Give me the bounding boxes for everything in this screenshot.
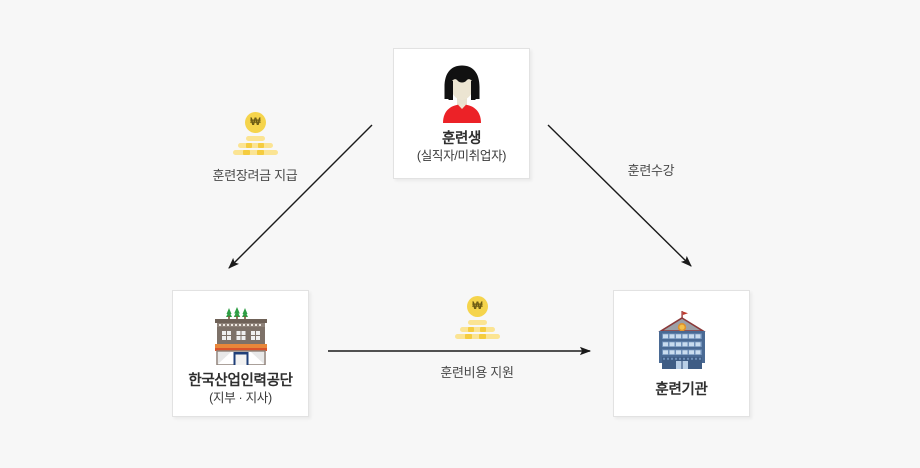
node-institution-label: 훈련기관 (655, 381, 707, 399)
coin-bar-2 (238, 143, 273, 148)
node-trainee-sublabel: (실직자/미취업자) (417, 149, 506, 165)
won-symbol: ₩ (472, 301, 482, 312)
coin-bar-3 (455, 334, 500, 339)
won-symbol: ₩ (250, 117, 260, 128)
office-building-icon (651, 307, 713, 369)
storefront-building-icon (206, 303, 276, 365)
node-hrdk-sublabel: (지부 · 지사) (209, 391, 272, 407)
edge-scholarship-label: 훈련장려금 지급 (213, 165, 298, 184)
coin-bar-1 (468, 320, 487, 325)
node-institution[interactable]: 훈련기관 (613, 290, 750, 417)
edge-attendance: 훈련수강 (556, 160, 746, 179)
woman-avatar-icon (431, 61, 493, 123)
node-trainee-label: 훈련생 (442, 130, 481, 148)
coin-bar-2 (460, 327, 495, 332)
won-coin-circle: ₩ (245, 112, 266, 133)
edge-attendance-label: 훈련수강 (556, 160, 746, 179)
coin-bar-1 (246, 136, 265, 141)
won-coin-stack-icon: ₩ (450, 296, 504, 341)
won-coin-circle: ₩ (467, 296, 488, 317)
edge-training-cost-label: 훈련비용 지원 (440, 362, 513, 381)
edge-scholarship: ₩ 훈련장려금 지급 (190, 112, 320, 184)
edge-training-cost: ₩ 훈련비용 지원 (412, 296, 542, 381)
node-hrdk-label: 한국산업인력공단 (188, 372, 292, 390)
won-coin-stack-icon: ₩ (228, 112, 282, 157)
coin-bar-3 (233, 150, 278, 155)
node-hrdk[interactable]: 한국산업인력공단 (지부 · 지사) (172, 290, 309, 417)
diagram-canvas: 훈련생 (실직자/미취업자) (0, 0, 920, 468)
arrow-attendance (548, 125, 691, 266)
node-trainee[interactable]: 훈련생 (실직자/미취업자) (393, 48, 530, 179)
